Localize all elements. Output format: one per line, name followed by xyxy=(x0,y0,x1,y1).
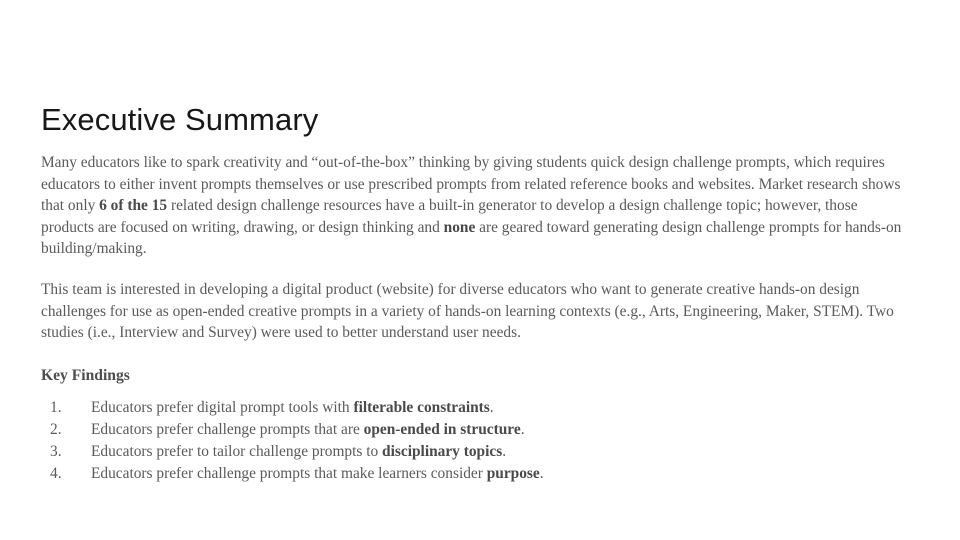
key-finding-4-run-1: purpose xyxy=(487,465,540,482)
key-finding-3-run-2: . xyxy=(502,443,506,460)
key-finding-3-run-0: Educators prefer to tailor challenge pro… xyxy=(91,443,382,460)
page-title: Executive Summary xyxy=(41,100,318,140)
key-finding-3-run-1: disciplinary topics xyxy=(382,443,502,460)
key-findings-list: Educators prefer digital prompt tools wi… xyxy=(41,397,913,485)
key-finding-item-2: Educators prefer challenge prompts that … xyxy=(41,419,913,441)
paragraph-group: Many educators like to spark creativity … xyxy=(41,152,913,344)
paragraph-market-research-run-3: none xyxy=(444,219,476,236)
paragraph-team-goal-run-0: This team is interested in developing a … xyxy=(41,281,894,341)
key-finding-1-run-2: . xyxy=(490,399,494,416)
key-finding-2-run-1: open-ended in structure xyxy=(364,421,521,438)
key-finding-item-1: Educators prefer digital prompt tools wi… xyxy=(41,397,913,419)
key-findings-heading: Key Findings xyxy=(41,363,913,386)
paragraph-market-research-run-1: 6 of the 15 xyxy=(99,197,167,214)
key-finding-item-4: Educators prefer challenge prompts that … xyxy=(41,463,913,485)
key-finding-4-run-0: Educators prefer challenge prompts that … xyxy=(91,465,487,482)
key-finding-2-run-2: . xyxy=(521,421,525,438)
key-finding-item-3: Educators prefer to tailor challenge pro… xyxy=(41,441,913,463)
slide-body: Many educators like to spark creativity … xyxy=(41,152,913,485)
key-finding-1-run-0: Educators prefer digital prompt tools wi… xyxy=(91,399,353,416)
slide-canvas: Executive Summary Many educators like to… xyxy=(0,0,960,540)
paragraph-team-goal: This team is interested in developing a … xyxy=(41,279,913,344)
key-finding-2-run-0: Educators prefer challenge prompts that … xyxy=(91,421,364,438)
key-finding-4-run-2: . xyxy=(540,465,544,482)
key-finding-1-run-1: filterable constraints xyxy=(353,399,489,416)
paragraph-market-research: Many educators like to spark creativity … xyxy=(41,152,913,260)
